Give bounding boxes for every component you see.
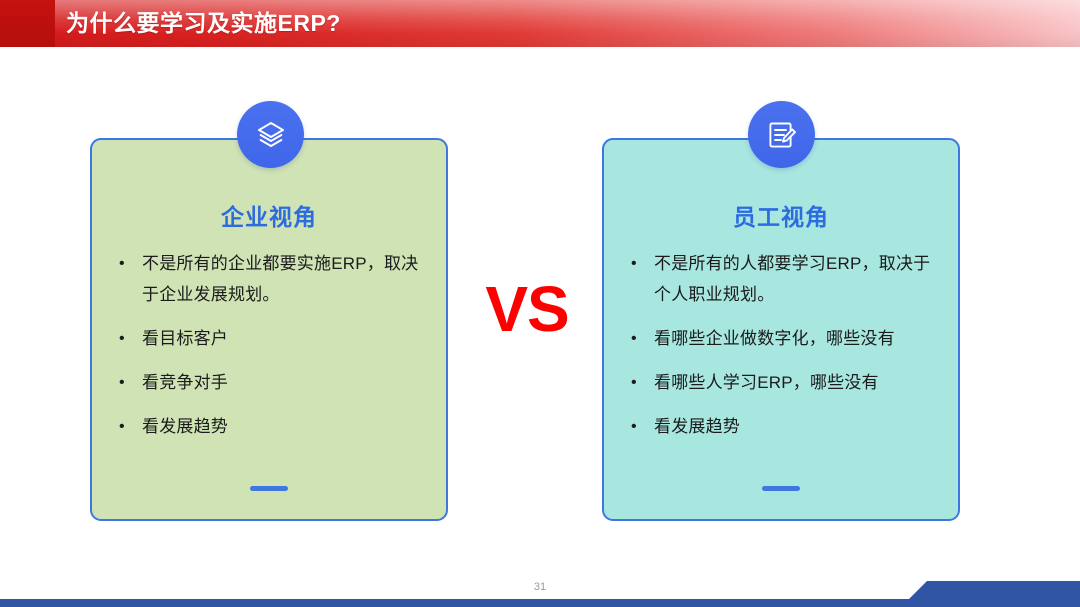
card-title-enterprise: 企业视角 [92, 198, 446, 232]
card-accent-dash-employee [762, 486, 800, 491]
bullet-list-enterprise: 不是所有的企业都要实施ERP，取决于企业发展规划。 看目标客户 看竞争对手 看发… [114, 248, 432, 455]
list-item: 看发展趋势 [114, 411, 432, 442]
title-accent-block [0, 0, 55, 47]
list-item: 看哪些企业做数字化，哪些没有 [626, 323, 944, 354]
list-item: 看哪些人学习ERP，哪些没有 [626, 367, 944, 398]
list-item: 看竞争对手 [114, 367, 432, 398]
card-employee-perspective[interactable]: 员工视角 不是所有的人都要学习ERP，取决于个人职业规划。 看哪些企业做数字化，… [602, 138, 960, 521]
list-item: 不是所有的人都要学习ERP，取决于个人职业规划。 [626, 248, 944, 310]
slide-canvas: 为什么要学习及实施ERP? 企业视角 不是所有的企业都要实施ERP，取决于企业发… [0, 0, 1080, 607]
page-title: 为什么要学习及实施ERP? [66, 0, 341, 47]
card-title-employee: 员工视角 [604, 198, 958, 232]
list-item: 不是所有的企业都要实施ERP，取决于企业发展规划。 [114, 248, 432, 310]
slide-title-bar: 为什么要学习及实施ERP? [0, 0, 1080, 47]
bullet-list-employee: 不是所有的人都要学习ERP，取决于个人职业规划。 看哪些企业做数字化，哪些没有 … [626, 248, 944, 455]
vs-label: VS [466, 277, 588, 341]
layers-icon [237, 101, 304, 168]
document-edit-icon [748, 101, 815, 168]
list-item: 看发展趋势 [626, 411, 944, 442]
card-accent-dash-enterprise [250, 486, 288, 491]
card-enterprise-perspective[interactable]: 企业视角 不是所有的企业都要实施ERP，取决于企业发展规划。 看目标客户 看竞争… [90, 138, 448, 521]
list-item: 看目标客户 [114, 323, 432, 354]
